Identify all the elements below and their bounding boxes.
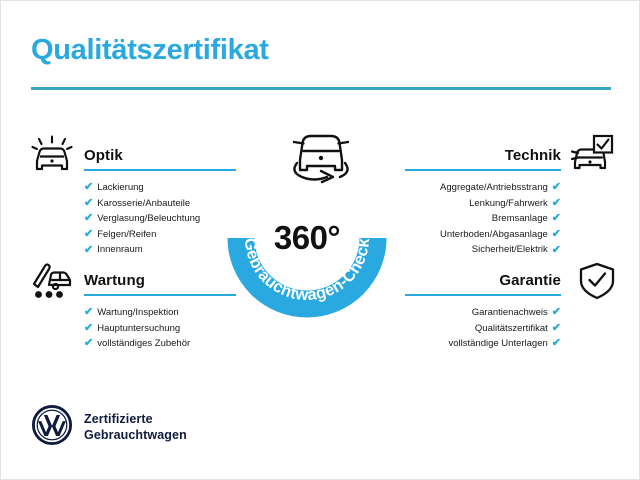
check-icon: ✔ bbox=[84, 245, 93, 256]
section-underline-wartung bbox=[84, 294, 236, 296]
section-heading-optik: Optik bbox=[84, 147, 236, 165]
footer-text: Zertifizierte Gebrauchtwagen bbox=[84, 412, 187, 443]
list-item: ✔Hauptuntersuchung bbox=[84, 321, 236, 337]
check-icon: ✔ bbox=[84, 229, 93, 240]
section-heading-wartung: Wartung bbox=[84, 272, 236, 290]
section-heading-garantie: Garantie bbox=[405, 272, 561, 290]
section-underline-technik bbox=[405, 169, 561, 171]
list-item-label: Karosserie/Anbauteile bbox=[97, 196, 190, 212]
checklist-garantie: Garantienachweis✔ Qualitätszertifikat✔ v… bbox=[405, 305, 561, 352]
list-item-label: Qualitätszertifikat bbox=[475, 321, 548, 337]
page-title: Qualitätszertifikat bbox=[31, 34, 269, 67]
section-underline-optik bbox=[84, 169, 236, 171]
car-rotation-icon bbox=[282, 127, 360, 185]
list-item: Bremsanlage✔ bbox=[405, 211, 561, 227]
volkswagen-logo bbox=[31, 404, 73, 451]
list-item: Sicherheit/Elektrik✔ bbox=[405, 242, 561, 258]
check-icon: ✔ bbox=[552, 307, 561, 318]
list-item-label: vollständige Unterlagen bbox=[448, 336, 547, 352]
list-item: ✔Karosserie/Anbauteile bbox=[84, 196, 236, 212]
list-item-label: Verglasung/Beleuchtung bbox=[97, 211, 200, 227]
section-heading-technik: Technik bbox=[405, 147, 561, 165]
check-icon: ✔ bbox=[84, 213, 93, 224]
list-item: ✔Innenraum bbox=[84, 242, 236, 258]
checklist-optik: ✔Lackierung ✔Karosserie/Anbauteile ✔Verg… bbox=[84, 180, 236, 258]
list-item-label: Innenraum bbox=[97, 242, 142, 258]
list-item: ✔Felgen/Reifen bbox=[84, 227, 236, 243]
list-item-label: Lackierung bbox=[97, 180, 143, 196]
section-technik: Technik Aggregate/Antriebsstrang✔ Lenkun… bbox=[405, 147, 561, 258]
list-item-label: Lenkung/Fahrwerk bbox=[469, 196, 548, 212]
section-garantie: Garantie Garantienachweis✔ Qualitätszert… bbox=[405, 272, 561, 352]
footer-branding: Zertifizierte Gebrauchtwagen bbox=[31, 404, 187, 451]
footer-line-2: Gebrauchtwagen bbox=[84, 428, 187, 444]
check-icon: ✔ bbox=[552, 245, 561, 256]
list-item: vollständige Unterlagen✔ bbox=[405, 336, 561, 352]
list-item-label: Garantienachweis bbox=[472, 305, 548, 321]
section-underline-garantie bbox=[405, 294, 561, 296]
check-icon: ✔ bbox=[552, 229, 561, 240]
car-shine-icon bbox=[29, 135, 75, 175]
list-item: Lenkung/Fahrwerk✔ bbox=[405, 196, 561, 212]
list-item: Qualitätszertifikat✔ bbox=[405, 321, 561, 337]
list-item-label: Felgen/Reifen bbox=[97, 227, 156, 243]
list-item: ✔vollständiges Zubehör bbox=[84, 336, 236, 352]
list-item: Garantienachweis✔ bbox=[405, 305, 561, 321]
check-icon: ✔ bbox=[552, 213, 561, 224]
footer-line-1: Zertifizierte bbox=[84, 412, 187, 428]
wrench-car-icon bbox=[29, 260, 75, 300]
list-item: Aggregate/Antriebsstrang✔ bbox=[405, 180, 561, 196]
list-item: ✔Verglasung/Beleuchtung bbox=[84, 211, 236, 227]
check-icon: ✔ bbox=[552, 182, 561, 193]
list-item: ✔Wartung/Inspektion bbox=[84, 305, 236, 321]
check-icon: ✔ bbox=[84, 198, 93, 209]
check-icon: ✔ bbox=[84, 323, 93, 334]
list-item-label: Aggregate/Antriebsstrang bbox=[440, 180, 548, 196]
list-item: Unterboden/Abgasanlage✔ bbox=[405, 227, 561, 243]
check-icon: ✔ bbox=[84, 182, 93, 193]
list-item-label: Hauptuntersuchung bbox=[97, 321, 180, 337]
list-item: ✔Lackierung bbox=[84, 180, 236, 196]
list-item-label: Wartung/Inspektion bbox=[97, 305, 179, 321]
certificate-page: Qualitätszertifikat Optik ✔Lackierung ✔K… bbox=[0, 0, 640, 480]
checklist-wartung: ✔Wartung/Inspektion ✔Hauptuntersuchung ✔… bbox=[84, 305, 236, 352]
car-checkbox-icon bbox=[569, 133, 615, 173]
section-optik: Optik ✔Lackierung ✔Karosserie/Anbauteile… bbox=[84, 147, 236, 258]
section-wartung: Wartung ✔Wartung/Inspektion ✔Hauptunters… bbox=[84, 272, 236, 352]
check-icon: ✔ bbox=[552, 198, 561, 209]
check-icon: ✔ bbox=[552, 323, 561, 334]
list-item-label: Unterboden/Abgasanlage bbox=[440, 227, 548, 243]
shield-check-icon bbox=[574, 261, 620, 301]
list-item-label: Bremsanlage bbox=[492, 211, 548, 227]
check-icon: ✔ bbox=[84, 338, 93, 349]
check-icon: ✔ bbox=[84, 307, 93, 318]
check-icon: ✔ bbox=[552, 338, 561, 349]
checklist-technik: Aggregate/Antriebsstrang✔ Lenkung/Fahrwe… bbox=[405, 180, 561, 258]
list-item-label: vollständiges Zubehör bbox=[97, 336, 190, 352]
title-divider bbox=[31, 87, 611, 90]
list-item-label: Sicherheit/Elektrik bbox=[472, 242, 548, 258]
